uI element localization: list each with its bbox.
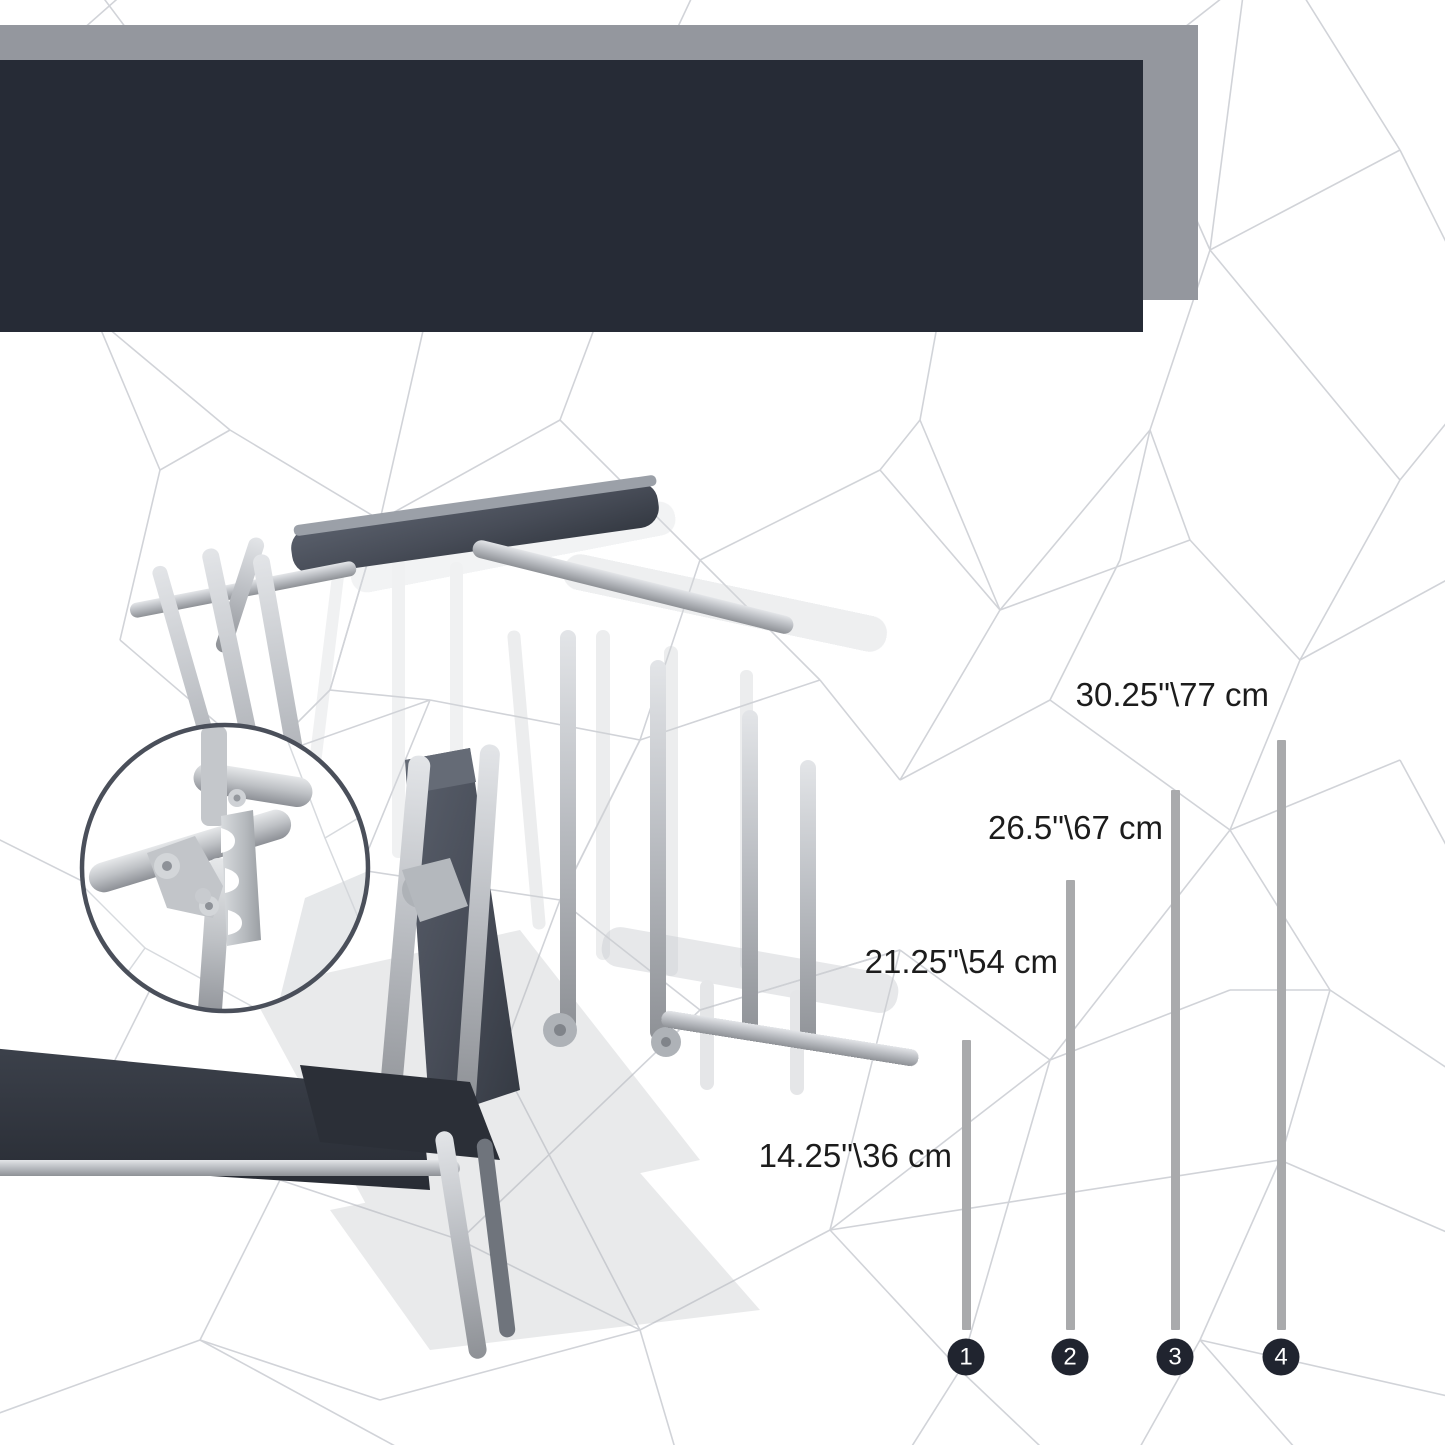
measurement-indicators: 14.25"\36 cm 1 21.25"\54 cm 2 26.5"\67 c…	[780, 640, 1420, 1400]
measure-label-level-2: 21.25"\54 cm	[865, 943, 1058, 981]
step-badge-4: 4	[1263, 1339, 1300, 1376]
measure-bar-level-1	[962, 1040, 971, 1330]
measure-label-level-4: 30.25"\77 cm	[1076, 676, 1269, 714]
measure-label-level-3: 26.5"\67 cm	[988, 809, 1163, 847]
magnifier-inset-recline-bracket	[75, 718, 375, 1018]
header-banner	[0, 60, 1143, 332]
step-badge-3: 3	[1157, 1339, 1194, 1376]
infographic-page: 14.25"\36 cm 1 21.25"\54 cm 2 26.5"\67 c…	[0, 0, 1445, 1445]
step-badge-2: 2	[1052, 1339, 1089, 1376]
measure-label-level-1: 14.25"\36 cm	[759, 1137, 952, 1175]
step-badge-1: 1	[948, 1339, 985, 1376]
measure-bar-level-2	[1066, 880, 1075, 1330]
measure-bar-level-3	[1171, 790, 1180, 1330]
measure-bar-level-4	[1277, 740, 1286, 1330]
